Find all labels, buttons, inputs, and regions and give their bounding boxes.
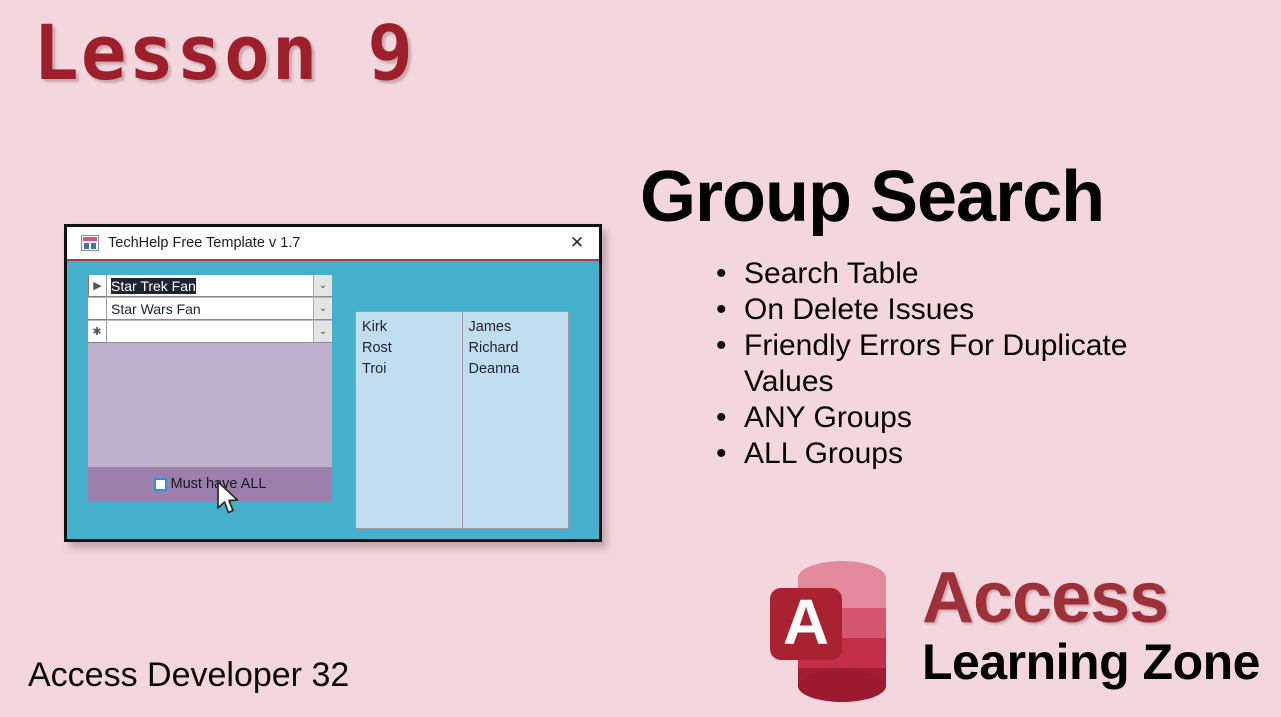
feature-label: ANY Groups xyxy=(744,401,912,434)
lesson-title: Lesson 9 xyxy=(33,8,415,97)
group-combo-value: Star Wars Fan xyxy=(111,301,201,317)
svg-text:A: A xyxy=(783,586,829,658)
chevron-down-icon[interactable]: ⌄ xyxy=(313,321,332,343)
chevron-down-icon[interactable]: ⌄ xyxy=(313,275,332,297)
subform-footer: Must have ALL xyxy=(88,467,332,501)
list-item[interactable]: Richard xyxy=(469,338,569,359)
must-have-all-checkbox[interactable] xyxy=(154,478,167,491)
feature-label: Friendly Errors For Duplicate Values xyxy=(744,329,1127,398)
logo-tagline: Learning Zone xyxy=(922,636,1260,688)
list-item: • On Delete Issues xyxy=(708,292,1128,328)
table-row[interactable]: Star Wars Fan ⌄ xyxy=(88,298,332,321)
logo-brand-word: Access xyxy=(922,562,1260,634)
list-item: • Search Table xyxy=(708,256,1128,292)
logo-wordmark: Access Learning Zone xyxy=(922,562,1260,688)
list-item[interactable]: Kirk xyxy=(362,317,462,338)
window-titlebar: TechHelp Free Template v 1.7 ✕ xyxy=(67,227,599,261)
table-row-new[interactable]: ✱ ⌄ xyxy=(88,321,332,344)
groups-datasheet: ▶ Star Trek Fan ⌄ Star Wars Fan ⌄ ✱ xyxy=(88,275,332,344)
listbox-column-lastname: Kirk Rost Troi xyxy=(356,312,462,528)
group-combo-field[interactable] xyxy=(107,321,313,343)
bullet-icon: • xyxy=(716,436,727,472)
groups-subform: ▶ Star Trek Fan ⌄ Star Wars Fan ⌄ ✱ xyxy=(88,275,332,501)
list-item: • ANY Groups xyxy=(708,400,1128,436)
must-have-all-label: Must have ALL xyxy=(171,476,267,492)
list-item: • Friendly Errors For Duplicate Values xyxy=(708,328,1128,400)
access-learning-zone-logo: A Access Learning Zone xyxy=(770,556,1250,708)
feature-label: On Delete Issues xyxy=(744,293,974,326)
names-listbox[interactable]: Kirk Rost Troi James Richard Deanna xyxy=(355,311,569,529)
bullet-icon: • xyxy=(716,292,727,328)
list-item[interactable]: Troi xyxy=(362,359,462,380)
close-icon[interactable]: ✕ xyxy=(555,227,599,259)
record-selector-current-icon[interactable]: ▶ xyxy=(88,275,107,297)
list-item[interactable]: Deanna xyxy=(469,359,569,380)
access-form-window: TechHelp Free Template v 1.7 ✕ ▶ Star Tr… xyxy=(64,224,602,542)
feature-list: • Search Table • On Delete Issues • Frie… xyxy=(708,256,1128,472)
group-combo-value: Star Trek Fan xyxy=(111,278,196,294)
new-record-asterisk-icon[interactable]: ✱ xyxy=(88,321,107,343)
access-database-icon: A xyxy=(770,556,890,702)
window-title: TechHelp Free Template v 1.7 xyxy=(108,235,300,251)
window-body: ▶ Star Trek Fan ⌄ Star Wars Fan ⌄ ✱ xyxy=(67,261,599,539)
course-subtitle: Access Developer 32 xyxy=(28,656,349,695)
bullet-icon: • xyxy=(716,328,727,364)
table-row[interactable]: ▶ Star Trek Fan ⌄ xyxy=(88,275,332,298)
list-item[interactable]: James xyxy=(469,317,569,338)
feature-label: ALL Groups xyxy=(744,437,903,470)
record-selector[interactable] xyxy=(88,298,107,320)
listbox-column-firstname: James Richard Deanna xyxy=(462,312,569,528)
group-combo-field[interactable]: Star Wars Fan xyxy=(107,298,313,320)
feature-label: Search Table xyxy=(744,257,919,290)
page-title: Group Search xyxy=(640,156,1104,238)
access-form-icon xyxy=(81,235,99,251)
chevron-down-icon[interactable]: ⌄ xyxy=(313,298,332,320)
list-item[interactable]: Rost xyxy=(362,338,462,359)
bullet-icon: • xyxy=(716,256,727,292)
list-item: • ALL Groups xyxy=(708,436,1128,472)
group-combo-field[interactable]: Star Trek Fan xyxy=(107,275,313,297)
bullet-icon: • xyxy=(716,400,727,436)
